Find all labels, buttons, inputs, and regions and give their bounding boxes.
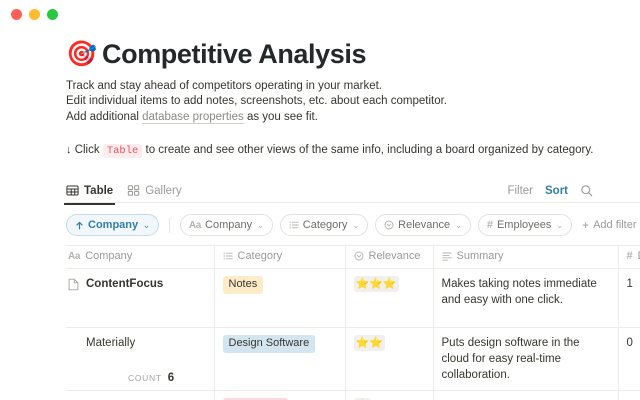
cell-relevance[interactable]: ⭐⭐ — [345, 328, 433, 391]
view-actions: Filter Sort — [507, 184, 593, 197]
chevron-down-icon: ⌄ — [143, 221, 150, 230]
filter-chip-employees[interactable]: # Employees ⌄ — [478, 214, 572, 236]
add-filter-button[interactable]: + Add filter — [579, 219, 636, 231]
select-icon — [354, 251, 364, 261]
cell-deals-won[interactable]: 1 — [618, 269, 640, 328]
company-name: Materially — [86, 335, 135, 351]
callout-hint: ↓ Click Table to create and see other vi… — [66, 142, 640, 159]
cell-summary[interactable]: Puts design software in the cloud for ea… — [433, 328, 618, 391]
description-line-1: Track and stay ahead of competitors oper… — [66, 79, 640, 95]
summary-text: Makes taking notes immediate and easy wi… — [442, 278, 597, 306]
cell-summary[interactable]: Makes taking notes immediate and easy wi… — [433, 269, 618, 328]
maximize-window-button[interactable] — [47, 9, 58, 20]
tab-gallery-label: Gallery — [145, 185, 181, 197]
cell-deals-won[interactable] — [618, 391, 640, 400]
search-icon[interactable] — [580, 184, 593, 197]
description-prefix: Add additional — [66, 111, 142, 123]
filter-chip-category[interactable]: Category ⌄ — [280, 214, 368, 236]
filter-chip-company-label: Company — [205, 219, 252, 231]
filter-button[interactable]: Filter — [507, 185, 533, 197]
cell-company[interactable]: Objectic — [66, 391, 214, 400]
company-name: ContentFocus — [86, 276, 163, 292]
table-row[interactable]: Objectic Mind Maps ⭐ Helps you get ideas… — [66, 391, 640, 400]
view-toolbar: Table Gallery Filter Sort — [66, 178, 640, 203]
description-line-2: Edit individual items to add notes, scre… — [66, 94, 640, 110]
arrow-up-icon — [75, 221, 84, 230]
relevance-stars: ⭐⭐⭐ — [354, 276, 399, 292]
tab-table-label: Table — [84, 185, 113, 197]
close-window-button[interactable] — [11, 9, 22, 20]
column-header-category[interactable]: Category — [214, 246, 345, 269]
callout-before: Click — [72, 144, 103, 156]
summary-text: Puts design software in the cloud for ea… — [442, 337, 580, 381]
relevance-stars: ⭐⭐ — [354, 335, 385, 351]
filter-chip-relevance[interactable]: Relevance ⌄ — [375, 214, 471, 236]
column-header-company[interactable]: Aa Company — [66, 246, 214, 269]
description-suffix: as you see fit. — [244, 111, 318, 123]
filter-chip-row: Company ⌄ Aa Company ⌄ Category ⌄ — [66, 214, 640, 236]
sort-button[interactable]: Sort — [545, 185, 568, 197]
column-header-category-label: Category — [238, 250, 283, 262]
page-content: 🎯 Competitive Analysis Track and stay ah… — [0, 40, 640, 400]
count-value: 6 — [168, 372, 174, 384]
cell-category[interactable]: Design Software — [214, 328, 345, 391]
multi-select-icon — [289, 220, 299, 230]
cell-deals-won[interactable]: 0 — [618, 328, 640, 391]
table-icon — [66, 184, 79, 197]
aa-text-icon: Aa — [189, 220, 201, 231]
category-tag: Notes — [223, 276, 264, 294]
tab-table[interactable]: Table — [66, 178, 113, 203]
cell-relevance[interactable]: ⭐⭐⭐ — [345, 269, 433, 328]
cell-category[interactable]: Mind Maps — [214, 391, 345, 400]
multi-select-icon — [223, 251, 233, 261]
page-header: 🎯 Competitive Analysis — [66, 40, 640, 70]
filter-chip-category-label: Category — [303, 219, 348, 231]
window-titlebar — [0, 0, 640, 28]
dart-board-emoji: 🎯 — [66, 42, 93, 67]
chevron-down-icon: ⌄ — [257, 221, 264, 230]
callout-after: to create and see other views of the sam… — [142, 144, 593, 156]
category-tag: Design Software — [223, 335, 316, 353]
chevron-down-icon: ⌄ — [556, 221, 563, 230]
page-icon[interactable] — [68, 278, 81, 291]
inline-code-table: Table — [103, 144, 143, 158]
column-header-summary[interactable]: Summary — [433, 246, 618, 269]
cell-category[interactable]: Notes — [214, 269, 345, 328]
page-description: Track and stay ahead of competitors oper… — [66, 79, 640, 126]
plus-icon: + — [582, 219, 589, 231]
count-summary[interactable]: COUNT 6 — [128, 372, 174, 384]
cell-summary[interactable]: Helps you get ideas out of your head — [433, 391, 618, 400]
filter-chip-company[interactable]: Aa Company ⌄ — [180, 214, 273, 236]
filter-chip-relevance-label: Relevance — [398, 219, 450, 231]
add-filter-label: Add filter — [593, 219, 636, 231]
gallery-icon — [127, 184, 140, 197]
view-tabs: Table Gallery — [66, 178, 182, 203]
number-hash-icon: # — [627, 250, 633, 262]
chevron-down-icon: ⌄ — [455, 221, 462, 230]
chip-divider — [169, 218, 170, 233]
page-title[interactable]: Competitive Analysis — [102, 40, 366, 70]
chevron-down-icon: ⌄ — [352, 221, 359, 230]
tab-gallery[interactable]: Gallery — [127, 178, 181, 203]
text-lines-icon — [442, 251, 452, 261]
number-hash-icon: # — [487, 219, 493, 231]
description-line-3: Add additional database properties as yo… — [66, 110, 640, 126]
column-header-relevance-label: Relevance — [369, 250, 421, 262]
column-header-company-label: Company — [85, 250, 132, 262]
database-properties-link[interactable]: database properties — [142, 111, 244, 124]
aa-text-icon: Aa — [68, 251, 80, 262]
cell-company[interactable]: ContentFocus — [66, 269, 214, 328]
column-header-deals-won[interactable]: # Deals Won — [618, 246, 640, 269]
minimize-window-button[interactable] — [29, 9, 40, 20]
column-header-summary-label: Summary — [457, 250, 504, 262]
count-label: COUNT — [128, 373, 162, 383]
view-bar-divider — [66, 202, 640, 203]
cell-relevance[interactable]: ⭐ — [345, 391, 433, 400]
sort-chip-label: Company — [88, 219, 138, 231]
column-header-relevance[interactable]: Relevance — [345, 246, 433, 269]
sort-chip-company[interactable]: Company ⌄ — [66, 214, 159, 236]
table-row[interactable]: ContentFocus Notes ⭐⭐⭐ Makes taking note… — [66, 269, 640, 328]
table-header-row: Aa Company — [66, 246, 640, 269]
select-icon — [384, 220, 394, 230]
filter-chip-employees-label: Employees — [497, 219, 551, 231]
